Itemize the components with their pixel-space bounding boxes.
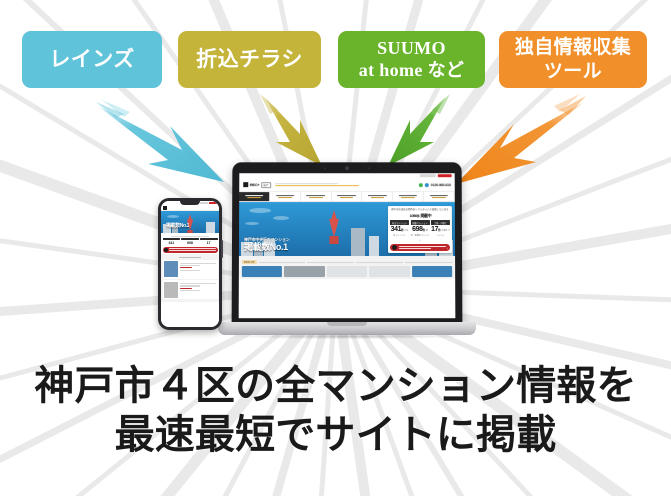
- nav-item-reform[interactable]: [362, 192, 393, 201]
- pickup-divider: [307, 262, 354, 263]
- site-header: REC+ 神戸 0120-960-610: [239, 178, 455, 192]
- phone-website: 掲載数No.1 341 698 17: [161, 201, 219, 327]
- cloud-icon: [245, 222, 259, 225]
- pickup-badge: PICK UP: [242, 260, 257, 264]
- mail-icon[interactable]: [425, 183, 429, 187]
- stats-cta-button[interactable]: ›: [390, 244, 450, 251]
- listing-card[interactable]: [284, 266, 324, 277]
- phone-stats-tabs: [163, 238, 218, 241]
- laptop-shadow: [236, 334, 458, 339]
- phone-hero-main: 掲載数No.1: [166, 224, 189, 229]
- site-logo-text: REC+: [250, 182, 260, 187]
- laptop-base-notch: [327, 322, 367, 326]
- phone-listing-list: [161, 254, 219, 302]
- source-box-tool-label2: ツール: [515, 60, 631, 83]
- site-nav: [239, 192, 455, 202]
- stats-tabs: 中古マンション 新築マンション 土地・戸建て: [390, 220, 450, 225]
- phone-notch: [180, 201, 200, 205]
- listing-cards: [242, 266, 452, 277]
- stats-cta-text: [399, 245, 446, 250]
- stats-tab-new[interactable]: 新築マンション: [410, 220, 429, 225]
- site-body: PICK UP: [239, 256, 455, 279]
- listing-thumbnail: [164, 261, 178, 277]
- hero-text: 神戸市中央区のマンション 掲載数No.1: [244, 237, 290, 252]
- laptop-mockup: REC+ 神戸 0120-960-610: [218, 162, 476, 352]
- cta-circle-icon: [392, 245, 397, 250]
- listing-meta: [180, 261, 217, 277]
- phone-stat-value: 698: [181, 241, 199, 245]
- phone-stats-tab[interactable]: [200, 238, 218, 241]
- site-phone-number: 0120-960-610: [431, 183, 451, 187]
- nav-item-company[interactable]: [270, 192, 301, 201]
- building-shape: [206, 222, 215, 233]
- line-icon[interactable]: [419, 183, 423, 187]
- listing-card[interactable]: [412, 266, 452, 277]
- site-hero: 神戸市中央区のマンション 掲載数No.1 神戸市中央区の物件をリアルタイムで更新…: [239, 202, 455, 256]
- topbar-cta-pill[interactable]: [438, 174, 452, 177]
- laptop-website: REC+ 神戸 0120-960-610: [239, 173, 456, 318]
- phone-topbar-cta-pill: [209, 202, 217, 204]
- phone-cta-button[interactable]: [163, 247, 218, 253]
- phone-topbar-pill: [200, 202, 208, 204]
- phone-stats-caption-line: [171, 236, 210, 237]
- caption-line-2: 最速最短でサイトに掲載: [0, 411, 671, 460]
- webcam-icon: [345, 166, 349, 170]
- phone-side-button[interactable]: [221, 240, 223, 258]
- port-tower-icon: [328, 210, 340, 244]
- phone-hero-text: 掲載数No.1: [166, 224, 189, 229]
- source-box-suumo[interactable]: SUUMO at home など: [338, 31, 485, 88]
- stats-total-row: 1056件掲載中: [390, 211, 450, 219]
- chevron-right-icon: ›: [447, 246, 448, 250]
- caption: 神戸市４区の全マンション情報を 最速最短でサイトに掲載: [0, 362, 671, 460]
- phone-list-heading: [179, 257, 201, 258]
- stat-cell: 341件 中央区 マンション: [390, 226, 409, 242]
- phone-hero: 掲載数No.1: [161, 211, 219, 233]
- stat-cell: 17件 兵庫区 マンション: [431, 226, 450, 242]
- laptop-lid: REC+ 神戸 0120-960-610: [232, 162, 463, 324]
- device-mockups: 掲載数No.1 341 698 17: [0, 150, 671, 360]
- nav-item-buy[interactable]: [332, 192, 363, 201]
- smartphone-mockup: 掲載数No.1 341 698 17: [158, 198, 222, 330]
- stat-unit: 件: [423, 228, 425, 232]
- phone-stat-value: 341: [163, 241, 181, 245]
- source-box-chirashi-label: 折込チラシ: [196, 47, 303, 73]
- hero-title: 掲載数No.1: [244, 243, 290, 252]
- phone-stats-numbers: 341 698 17: [163, 241, 218, 245]
- pickup-divider: [356, 262, 403, 263]
- stat-cell: 698件 灘区・東灘区 マンション: [410, 226, 429, 242]
- listing-meta: [180, 282, 217, 298]
- phone-screen: 掲載数No.1 341 698 17: [161, 201, 219, 327]
- listing-card[interactable]: [327, 266, 367, 277]
- header-contact: 0120-960-610: [419, 183, 451, 187]
- pickup-row: PICK UP: [242, 260, 452, 264]
- stats-total-value: 1056: [410, 213, 417, 218]
- nav-item-contact[interactable]: [424, 192, 455, 201]
- source-box-chirashi[interactable]: 折込チラシ: [178, 31, 321, 88]
- phone-site-logo: [163, 206, 167, 210]
- phone-stats-tab[interactable]: [181, 238, 199, 241]
- caption-line-1: 神戸市４区の全マンション情報を: [0, 362, 671, 411]
- list-item[interactable]: [163, 260, 218, 279]
- stats-tab-land[interactable]: 土地・戸建て: [431, 220, 450, 225]
- source-box-tool-label: 独自情報収集: [515, 36, 631, 59]
- phone-stat-value: 17: [200, 241, 218, 245]
- stats-values-row: 341件 中央区 マンション 698件 灘区・東灘区 マンション 17件: [390, 226, 450, 242]
- listing-card[interactable]: [242, 266, 282, 277]
- nav-item-blog[interactable]: [393, 192, 424, 201]
- stats-tab-used[interactable]: 中古マンション: [390, 220, 409, 225]
- stat-value: 698: [412, 226, 422, 233]
- site-logo-tag: 神戸: [261, 182, 271, 188]
- topbar-link-pill[interactable]: [420, 174, 436, 177]
- laptop-screen: REC+ 神戸 0120-960-610: [239, 173, 456, 318]
- stat-value: 341: [391, 226, 401, 233]
- pickup-divider: [258, 262, 305, 263]
- infographic-canvas: レインズ 折込チラシ SUUMO at home など 独自情報収集 ツール: [0, 0, 671, 496]
- phone-cta-text: [169, 248, 216, 252]
- cloud-icon: [273, 216, 289, 220]
- list-item[interactable]: [163, 280, 218, 299]
- source-box-suumo-label: SUUMO: [359, 38, 465, 60]
- stats-panel: 神戸市中央区の物件をリアルタイムで更新しています 1056件掲載中 中古マンショ…: [388, 206, 452, 253]
- cloud-icon: [167, 215, 179, 218]
- stats-total-unit: 件: [417, 214, 420, 218]
- sensor-dot-icon: [324, 167, 326, 169]
- logo-square-icon: [243, 182, 248, 187]
- cta-circle-icon: [164, 248, 168, 252]
- source-box-tool[interactable]: 独自情報収集 ツール: [499, 31, 647, 88]
- nav-item-top[interactable]: [239, 192, 270, 201]
- pickup-divider: [405, 262, 452, 263]
- header-tagline: [275, 182, 415, 188]
- stats-total-label: 掲載中: [420, 213, 431, 218]
- phone-stats-block: 341 698 17: [161, 233, 219, 254]
- site-logo[interactable]: REC+ 神戸: [243, 182, 271, 188]
- building-shape: [351, 228, 365, 256]
- building-shape: [369, 236, 379, 256]
- phone-stats-tab[interactable]: [163, 238, 181, 241]
- source-box-suumo-label2: at home など: [359, 60, 465, 82]
- source-box-rains-label: レインズ: [49, 47, 134, 73]
- nav-item-sell[interactable]: [301, 192, 332, 201]
- listing-thumbnail: [164, 282, 178, 298]
- listing-card[interactable]: [369, 266, 409, 277]
- sensor-dot-icon: [368, 167, 370, 169]
- source-box-rains[interactable]: レインズ: [22, 31, 162, 88]
- cloud-icon: [249, 208, 271, 213]
